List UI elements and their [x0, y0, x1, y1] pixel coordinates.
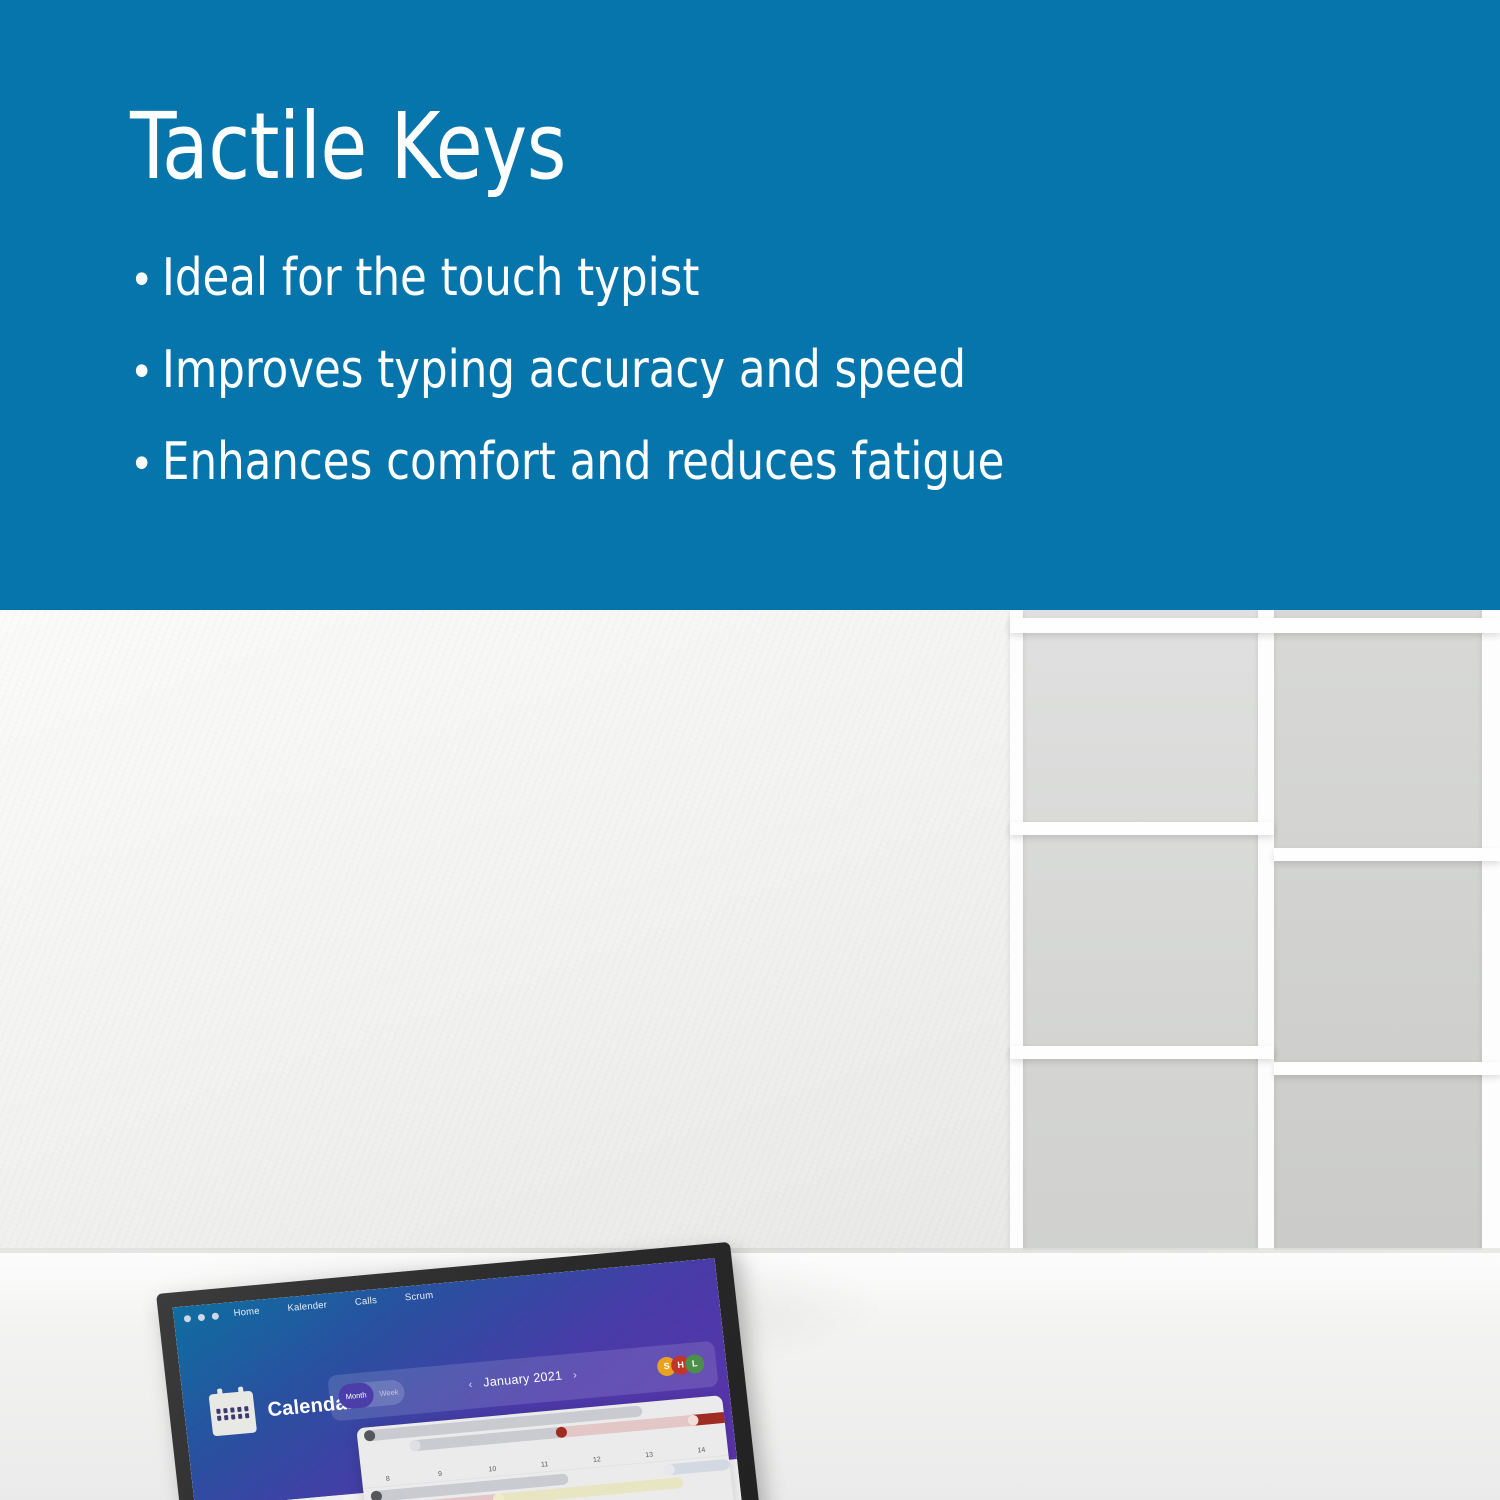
feature-bullet-1: • Ideal for the touch typist — [130, 252, 1430, 304]
nav-tab-calls[interactable]: Calls — [354, 1295, 377, 1308]
feature-bullet-text: Ideal for the touch typist — [162, 252, 699, 304]
nav-tab-scrum[interactable]: Scrum — [404, 1290, 434, 1304]
attendee-avatars[interactable]: SHL — [661, 1354, 705, 1377]
prev-month-icon[interactable]: ‹ — [461, 1378, 480, 1392]
window-controls[interactable] — [184, 1312, 220, 1322]
ad-banner-page: Tactile Keys • Ideal for the touch typis… — [0, 0, 1500, 1500]
feature-banner: Tactile Keys • Ideal for the touch typis… — [0, 0, 1500, 610]
calendar-day-number[interactable]: 8 — [361, 1473, 414, 1485]
feature-bullet-2: • Improves typing accuracy and speed — [130, 344, 1430, 396]
feature-bullet-text: Enhances comfort and reduces fatigue — [162, 436, 1004, 488]
bullet-marker-icon: • — [130, 259, 162, 303]
feature-bullet-text: Improves typing accuracy and speed — [162, 344, 966, 396]
calendar-day-number[interactable]: 14 — [675, 1444, 728, 1456]
bullet-marker-icon: • — [130, 351, 162, 395]
calendar-day-number[interactable]: 9 — [414, 1468, 467, 1480]
calendar-day-number[interactable]: 10 — [466, 1463, 519, 1475]
nav-tab-kalender[interactable]: Kalender — [287, 1300, 328, 1315]
product-lifestyle-photo: Home Kalender Calls Scrum Calendar — [0, 610, 1500, 1500]
feature-bullet-list: • Ideal for the touch typist • Improves … — [130, 252, 1430, 528]
page-title: Tactile Keys — [130, 101, 566, 193]
shelving-unit — [1010, 610, 1500, 1330]
office-wall — [0, 610, 1060, 1310]
calendar-day-number[interactable]: 11 — [518, 1459, 571, 1471]
bullet-marker-icon: • — [130, 443, 162, 487]
current-month-label: January 2021 — [482, 1369, 563, 1390]
calendar-day-number[interactable]: 13 — [623, 1449, 676, 1461]
nav-tab-home[interactable]: Home — [233, 1306, 260, 1319]
next-month-icon[interactable]: › — [565, 1369, 584, 1383]
calendar-event-bar[interactable] — [663, 1458, 730, 1475]
calendar-day-number[interactable]: 12 — [570, 1454, 623, 1466]
calendar-icon — [209, 1391, 258, 1437]
feature-bullet-3: • Enhances comfort and reduces fatigue — [130, 436, 1430, 488]
